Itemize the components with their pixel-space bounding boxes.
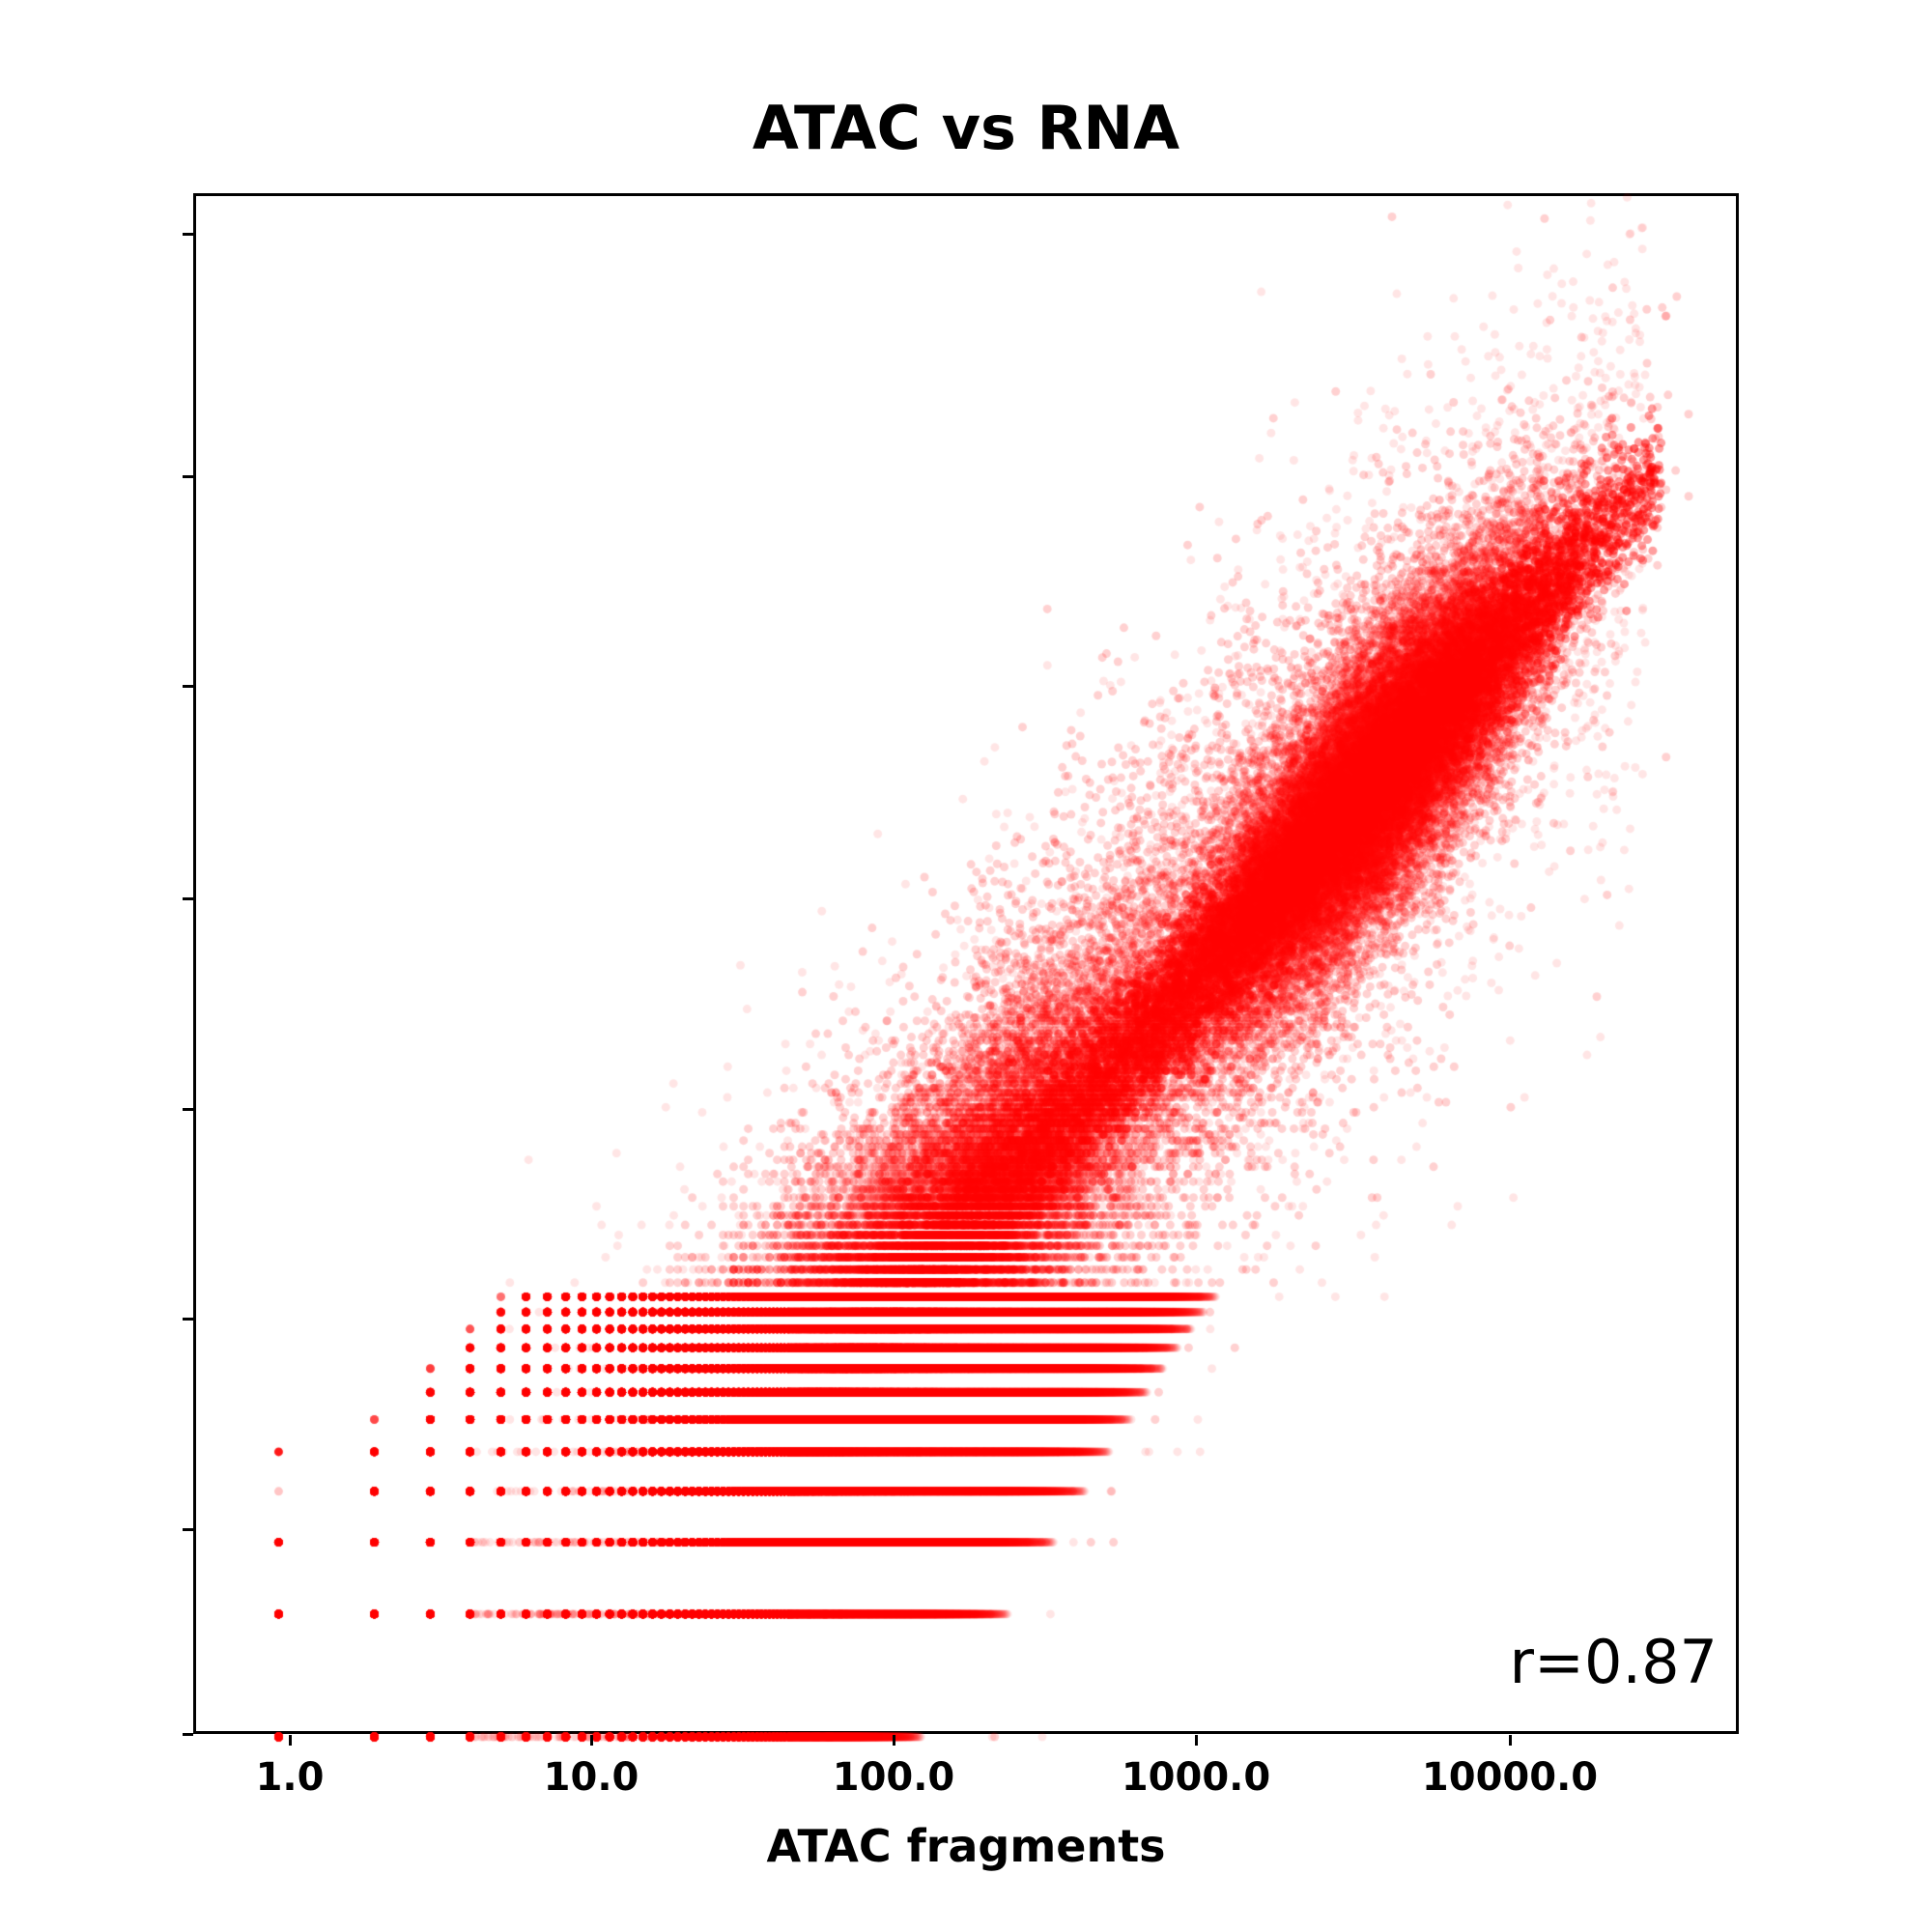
y-tick-mark [183, 897, 193, 900]
y-tick-mark [183, 1108, 193, 1111]
x-tick-mark [1509, 1735, 1512, 1746]
x-tick-mark [590, 1735, 593, 1746]
x-tick-label: 10.0 [544, 1758, 639, 1797]
y-tick-mark [183, 233, 193, 236]
x-tick-mark [893, 1735, 895, 1746]
page-title: ATAC vs RNA [0, 93, 1932, 163]
y-tick-mark [183, 475, 193, 478]
plot-area [193, 193, 1739, 1734]
y-tick-mark [183, 685, 193, 688]
x-tick-label: 10000.0 [1422, 1758, 1598, 1797]
y-tick-mark [183, 1733, 193, 1736]
scatter-figure: ATAC vs RNA 3162.277660171000.0316.22776… [0, 0, 1932, 1932]
x-tick-label: 100.0 [833, 1758, 955, 1797]
scatter-points-canvas [157, 157, 1780, 1776]
x-tick-label: 1.0 [256, 1758, 325, 1797]
y-tick-mark [183, 1528, 193, 1531]
x-tick-mark [1195, 1735, 1198, 1746]
x-tick-label: 1000.0 [1122, 1758, 1270, 1797]
x-axis-label: ATAC fragments [193, 1820, 1739, 1872]
x-tick-mark [289, 1735, 292, 1746]
correlation-annotation: r=0.87 [1510, 1627, 1719, 1697]
y-tick-mark [183, 1318, 193, 1321]
